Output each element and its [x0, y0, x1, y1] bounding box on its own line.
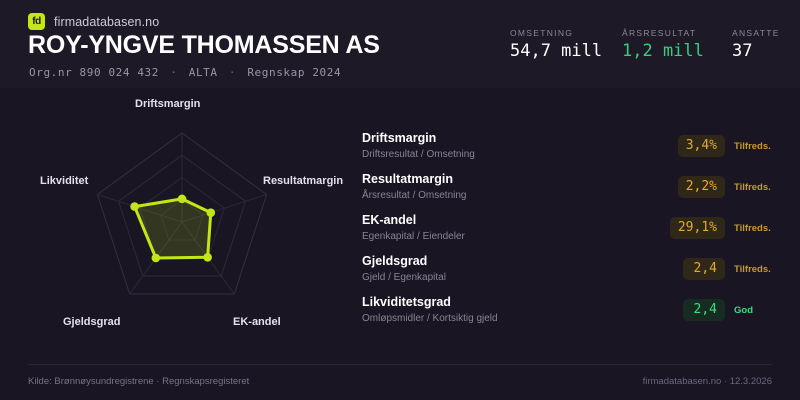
metric-row-ek-andel[interactable]: EK-andel Egenkapital / Eiendeler 29,1% T… — [362, 210, 782, 246]
radar-chart: Driftsmargin Resultatmargin EK-andel Gje… — [0, 88, 360, 358]
metric-row-resultatmargin[interactable]: Resultatmargin Årsresultat / Omsetning 2… — [362, 169, 782, 205]
header-bar: fd firmadatabasen.no ROY-YNGVE THOMASSEN… — [0, 0, 800, 88]
metric-text: EK-andel Egenkapital / Eiendeler — [362, 213, 662, 243]
metric-badge-slot: 2,4 — [657, 258, 725, 280]
metric-value-group: 3,4% Tilfreds. — [657, 128, 782, 164]
stat-ansatte-label: ANSATTE — [732, 28, 792, 38]
metric-value-group: 2,2% Tilfreds. — [657, 169, 782, 205]
stat-arsresultat: ÅRSRESULTAT 1,2 mill — [622, 28, 732, 60]
metric-text: Likviditetsgrad Omløpsmidler / Kortsikti… — [362, 295, 662, 325]
metric-rating: Tilfreds. — [734, 141, 771, 152]
metric-text: Resultatmargin Årsresultat / Omsetning — [362, 172, 662, 202]
metric-value-badge: 2,4 — [683, 258, 725, 280]
metric-rating: Tilfreds. — [734, 182, 771, 193]
metric-value-badge: 29,1% — [670, 217, 725, 239]
radar-point — [178, 195, 187, 204]
metric-name: Likviditetsgrad — [362, 295, 662, 311]
footer-divider — [28, 364, 772, 365]
radar-chart-svg — [0, 88, 360, 358]
metric-formula: Gjeld / Egenkapital — [362, 271, 662, 285]
metric-row-driftsmargin[interactable]: Driftsmargin Driftsresultat / Omsetning … — [362, 128, 782, 164]
stat-arsresultat-value: 1,2 mill — [622, 43, 732, 60]
metric-value-badge: 2,4 — [683, 299, 725, 321]
metric-formula: Årsresultat / Omsetning — [362, 189, 662, 203]
brand-site-name: firmadatabasen.no — [54, 15, 159, 29]
metrics-list: Driftsmargin Driftsresultat / Omsetning … — [362, 128, 782, 333]
stat-omsetning: OMSETNING 54,7 mill — [510, 28, 622, 60]
radar-point — [152, 254, 161, 263]
metric-name: Driftsmargin — [362, 131, 662, 147]
company-city: ALTA — [189, 66, 218, 79]
metric-row-gjeldsgrad[interactable]: Gjeldsgrad Gjeld / Egenkapital 2,4 Tilfr… — [362, 251, 782, 287]
metric-value-group: 2,4 Tilfreds. — [657, 251, 782, 287]
metric-name: EK-andel — [362, 213, 662, 229]
header-stats: OMSETNING 54,7 mill ÅRSRESULTAT 1,2 mill… — [510, 28, 792, 60]
radar-point — [130, 202, 139, 211]
metric-formula: Omløpsmidler / Kortsiktig gjeld — [362, 312, 662, 326]
metric-rating: God — [734, 305, 753, 316]
radar-axis-label-ek-andel: EK-andel — [233, 316, 281, 328]
footer-source: Kilde: Brønnøysundregistrene · Regnskaps… — [28, 376, 249, 387]
metric-row-likviditetsgrad[interactable]: Likviditetsgrad Omløpsmidler / Kortsikti… — [362, 292, 782, 328]
meta-separator-2: · — [225, 66, 240, 79]
stat-ansatte-value: 37 — [732, 43, 792, 60]
report-card: fd firmadatabasen.no ROY-YNGVE THOMASSEN… — [0, 0, 800, 400]
meta-separator-1: · — [166, 66, 181, 79]
metric-value-badge: 2,2% — [678, 176, 725, 198]
firmadatabasen-logo-icon: fd — [28, 13, 45, 30]
radar-point — [206, 208, 215, 217]
metric-rating: Tilfreds. — [734, 264, 771, 275]
footer-bar: Kilde: Brønnøysundregistrene · Regnskaps… — [0, 364, 800, 400]
metric-text: Gjeldsgrad Gjeld / Egenkapital — [362, 254, 662, 284]
metric-badge-slot: 2,4 — [657, 299, 725, 321]
stat-arsresultat-label: ÅRSRESULTAT — [622, 28, 732, 38]
radar-axis-label-driftsmargin: Driftsmargin — [135, 98, 200, 110]
company-meta: Org.nr 890 024 432 · ALTA · Regnskap 202… — [29, 66, 341, 79]
metric-name: Gjeldsgrad — [362, 254, 662, 270]
radar-axis-label-resultatmargin: Resultatmargin — [263, 175, 343, 187]
radar-series — [130, 195, 215, 263]
metric-value-group: 2,4 God — [657, 292, 782, 328]
metric-text: Driftsmargin Driftsresultat / Omsetning — [362, 131, 662, 161]
radar-axis-label-likviditet: Likviditet — [40, 175, 88, 187]
orgnr-text: Org.nr 890 024 432 — [29, 66, 159, 79]
metric-badge-slot: 29,1% — [657, 217, 725, 239]
metric-value-badge: 3,4% — [678, 135, 725, 157]
stat-omsetning-value: 54,7 mill — [510, 43, 622, 60]
radar-axis-label-gjeldsgrad: Gjeldsgrad — [63, 316, 120, 328]
metric-name: Resultatmargin — [362, 172, 662, 188]
accounting-year: Regnskap 2024 — [247, 66, 341, 79]
metric-rating: Tilfreds. — [734, 223, 771, 234]
stat-omsetning-label: OMSETNING — [510, 28, 622, 38]
radar-series-area — [135, 199, 211, 258]
metric-formula: Egenkapital / Eiendeler — [362, 230, 662, 244]
metric-badge-slot: 2,2% — [657, 176, 725, 198]
page-title: ROY-YNGVE THOMASSEN AS — [28, 32, 380, 60]
stat-ansatte: ANSATTE 37 — [732, 28, 792, 60]
footer-credit: firmadatabasen.no · 12.3.2026 — [643, 376, 772, 387]
metric-formula: Driftsresultat / Omsetning — [362, 148, 662, 162]
radar-point — [203, 253, 212, 262]
brand[interactable]: fd firmadatabasen.no — [28, 13, 159, 30]
metric-value-group: 29,1% Tilfreds. — [657, 210, 782, 246]
metric-badge-slot: 3,4% — [657, 135, 725, 157]
